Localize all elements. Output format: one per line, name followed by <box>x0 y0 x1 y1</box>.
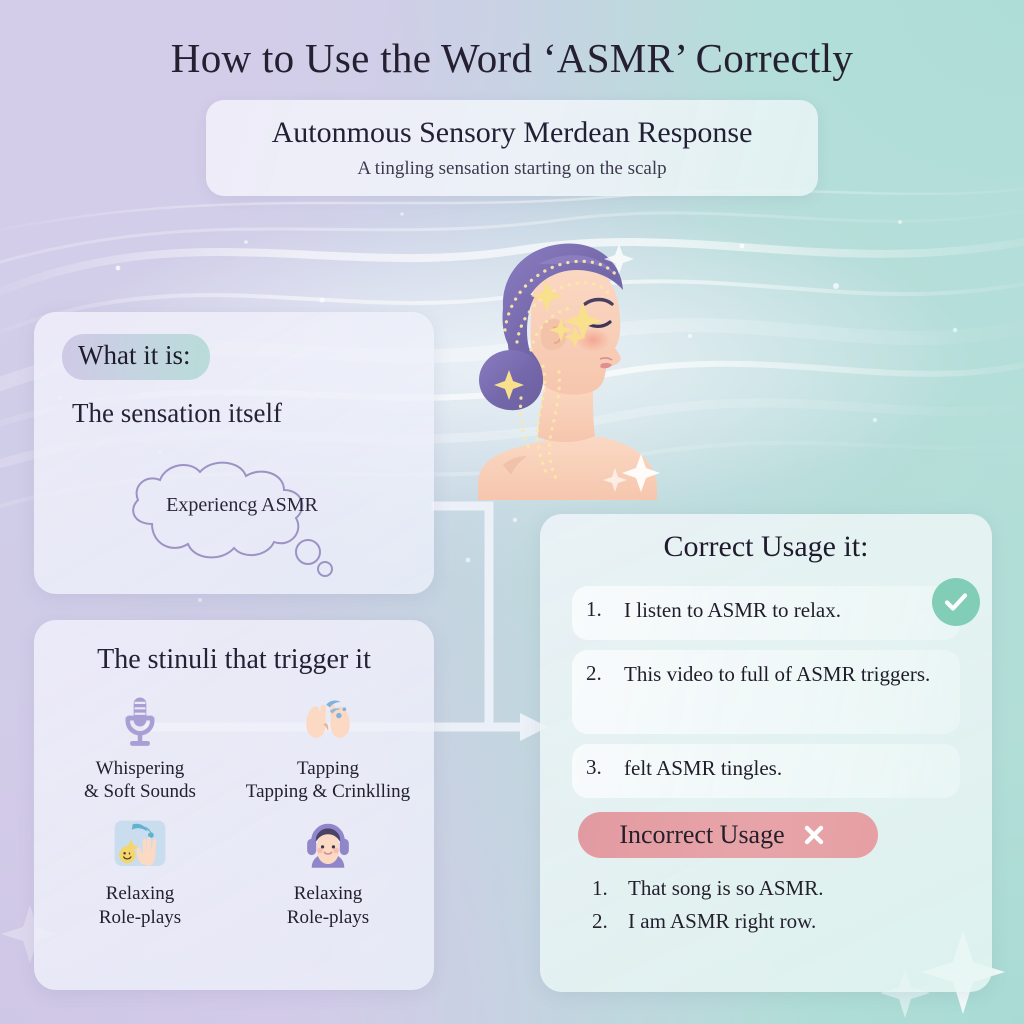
what-it-is-badge: What it is: <box>62 334 210 380</box>
correct-usage-item[interactable]: 1. I listen to ASMR to relax. <box>572 586 960 640</box>
what-it-is-card: What it is: The sensation itself Experie… <box>34 312 434 594</box>
definition-card: Autonmous Sensory Merdean Response A tin… <box>206 100 818 196</box>
stimuli-item-tapping[interactable]: TappingTapping & Crinklling <box>234 692 422 803</box>
check-glyph <box>941 587 971 617</box>
list-number: 1. <box>592 872 628 905</box>
correct-usage-title: Correct Usage it: <box>540 530 992 564</box>
thought-bubble-text: Experiencg ASMR <box>112 494 372 517</box>
incorrect-usage-list: 1. That song is so ASMR. 2. I am ASMR ri… <box>592 872 823 937</box>
list-number: 2. <box>586 661 624 722</box>
stimuli-label: Whispering& Soft Sounds <box>84 757 196 803</box>
x-circle-icon <box>797 818 831 852</box>
tapping-hands-icon <box>299 692 357 750</box>
incorrect-usage-badge: Incorrect Usage <box>578 812 878 858</box>
stimuli-card: The stinuli that trigger it Whispering <box>34 620 434 990</box>
stimuli-label: RelaxingRole-plays <box>99 882 181 928</box>
usage-card: Correct Usage it: 1. I listen to ASMR to… <box>540 514 992 992</box>
stimuli-item-roleplay-hand[interactable]: RelaxingRole-plays <box>46 817 234 928</box>
incorrect-usage-item[interactable]: 1. That song is so ASMR. <box>592 872 823 905</box>
list-text: felt ASMR tingles. <box>624 755 782 786</box>
stimuli-label: TappingTapping & Crinklling <box>246 757 410 803</box>
list-text: I am ASMR right row. <box>628 905 816 938</box>
list-number: 1. <box>586 597 624 628</box>
stimuli-label: RelaxingRole-plays <box>287 882 369 928</box>
microphone-icon <box>111 692 169 750</box>
correct-usage-item[interactable]: 2. This video to full of ASMR triggers. <box>572 650 960 734</box>
definition-description: A tingling sensation starting on the sca… <box>357 158 666 180</box>
list-number: 3. <box>586 755 624 786</box>
list-text: I listen to ASMR to relax. <box>624 597 841 628</box>
incorrect-usage-item[interactable]: 2. I am ASMR right row. <box>592 905 823 938</box>
headphones-person-icon <box>299 817 357 875</box>
list-number: 2. <box>592 905 628 938</box>
list-text: That song is so ASMR. <box>628 872 823 905</box>
stimuli-item-roleplay-headphones[interactable]: RelaxingRole-plays <box>234 817 422 928</box>
page-title: How to Use the Word ‘ASMR’ Correctly <box>0 34 1024 82</box>
woman-profile-tingles-illustration <box>443 222 693 500</box>
stimuli-item-whispering[interactable]: Whispering& Soft Sounds <box>46 692 234 803</box>
stimuli-title: The stinuli that trigger it <box>34 644 434 676</box>
incorrect-usage-label: Incorrect Usage <box>619 820 784 850</box>
stimuli-grid: Whispering& Soft Sounds <box>46 692 422 929</box>
what-it-is-text: The sensation itself <box>72 398 282 429</box>
definition-expansion: Autonmous Sensory Merdean Response <box>272 116 753 151</box>
list-text: This video to full of ASMR triggers. <box>624 661 930 722</box>
hand-sparkle-icon <box>111 817 169 875</box>
correct-usage-item[interactable]: 3. felt ASMR tingles. <box>572 744 960 798</box>
check-circle-icon <box>932 578 980 626</box>
